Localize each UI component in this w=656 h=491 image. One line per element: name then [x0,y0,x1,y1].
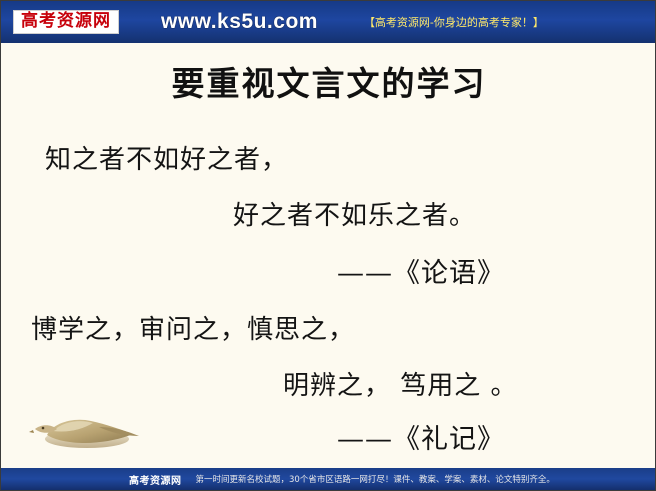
page-title: 要重视文言文的学习 [1,57,656,105]
bottom-banner: 高考资源网 第一时间更新名校试题，30个省市区语路一网打尽！课件、教案、学案、素… [1,468,656,490]
quote-source-2: ——《礼记》 [337,417,505,456]
bottom-brand: 高考资源网 [129,472,182,487]
slide-body: 知之者不如好之者， 好之者不如乐之者。 ——《论语》 博学之，审问之，慎思之， … [1,127,656,437]
top-banner: 高考资源网 www.ks5u.com 【高考资源网-你身边的高考专家！】 [1,1,656,43]
quote-line-3: 博学之，审问之，慎思之， [31,309,355,346]
quote-line-1: 知之者不如好之者， [45,139,288,176]
quote-source-1: ——《论语》 [337,251,505,290]
site-url[interactable]: www.ks5u.com [161,10,318,34]
bottom-note: 第一时间更新名校试题，30个省市区语路一网打尽！课件、教案、学案、素材、论文特别… [196,473,555,485]
quote-line-2: 好之者不如乐之者。 [233,195,476,232]
quote-line-4: 明辨之， 笃用之 。 [283,365,518,402]
brand-logo: 高考资源网 [13,10,119,35]
presentation-slide: 高考资源网 www.ks5u.com 【高考资源网-你身边的高考专家！】 要重视… [0,0,656,491]
duck-illustration-icon [29,405,147,453]
banner-tagline: 【高考资源网-你身边的高考专家！】 [364,14,544,30]
